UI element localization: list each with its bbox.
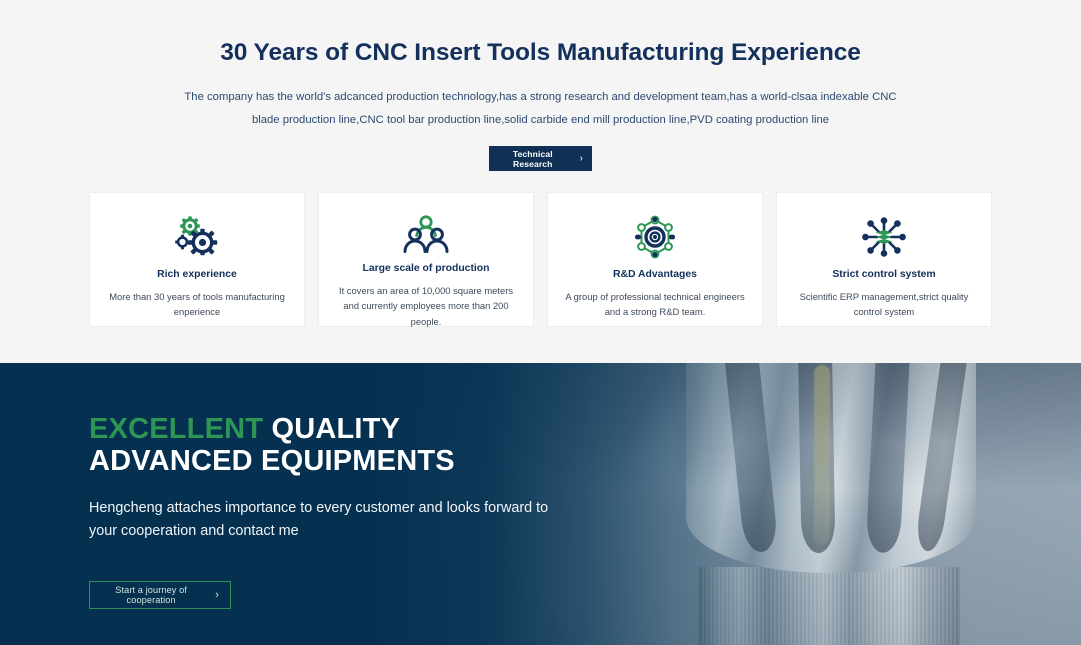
- hero-paragraph-line-1: Hengcheng attaches importance to every c…: [89, 497, 548, 520]
- technical-research-button-wrap: Technical Research ›: [0, 144, 1081, 172]
- gears-icon: [173, 213, 221, 261]
- chevron-right-icon: ›: [580, 154, 583, 164]
- feature-card-rich-experience[interactable]: Rich experience More than 30 years of to…: [89, 192, 305, 327]
- features-section: 30 Years of CNC Insert Tools Manufacturi…: [0, 0, 1081, 363]
- hero-paragraph: Hengcheng attaches importance to every c…: [89, 497, 548, 543]
- start-cooperation-button-label: Start a journey of cooperation: [101, 585, 201, 605]
- feature-card-title: Strict control system: [832, 269, 935, 280]
- hero-title-line-1: EXCELLENT QUALITY: [89, 413, 548, 445]
- feature-card-description: Scientific ERP management,strict quality…: [793, 289, 975, 319]
- landing-page: 30 Years of CNC Insert Tools Manufacturi…: [0, 0, 1081, 645]
- start-cooperation-button[interactable]: Start a journey of cooperation ›: [89, 581, 231, 609]
- feature-card-title: Large scale of production: [362, 263, 489, 274]
- feature-card-description: More than 30 years of tools manufacturin…: [106, 289, 288, 319]
- hero-title: EXCELLENT QUALITY ADVANCED EQUIPMENTS: [89, 413, 548, 478]
- feature-card-title: Rich experience: [157, 269, 237, 280]
- feature-card-description: A group of professional technical engine…: [564, 289, 746, 319]
- radial-hub-icon: [860, 213, 908, 261]
- feature-card-rd-advantages[interactable]: R&D Advantages A group of professional t…: [547, 192, 763, 327]
- page-title: 30 Years of CNC Insert Tools Manufacturi…: [0, 38, 1081, 67]
- hero-banner: EXCELLENT QUALITY ADVANCED EQUIPMENTS He…: [0, 363, 1081, 645]
- feature-card-list: Rich experience More than 30 years of to…: [0, 192, 1081, 327]
- feature-card-strict-control-system[interactable]: Strict control system Scientific ERP man…: [776, 192, 992, 327]
- technical-research-button[interactable]: Technical Research ›: [489, 146, 592, 171]
- feature-card-title: R&D Advantages: [613, 269, 697, 280]
- hero-paragraph-line-2: your cooperation and contact me: [89, 520, 548, 543]
- feature-card-large-scale-of-production[interactable]: Large scale of production It covers an a…: [318, 192, 534, 327]
- hero-title-accent: EXCELLENT: [89, 413, 263, 445]
- section-subheading: The company has the world's adcanced pro…: [176, 86, 906, 131]
- molecule-network-icon: [631, 213, 679, 261]
- technical-research-button-label: Technical Research: [498, 149, 568, 169]
- people-group-icon: [402, 213, 450, 255]
- hero-content: EXCELLENT QUALITY ADVANCED EQUIPMENTS He…: [89, 413, 548, 609]
- hero-title-rest: QUALITY: [271, 413, 400, 445]
- feature-card-description: It covers an area of 10,000 square meter…: [335, 283, 517, 329]
- chevron-right-icon: ›: [215, 590, 219, 601]
- hero-title-line-2: ADVANCED EQUIPMENTS: [89, 445, 548, 477]
